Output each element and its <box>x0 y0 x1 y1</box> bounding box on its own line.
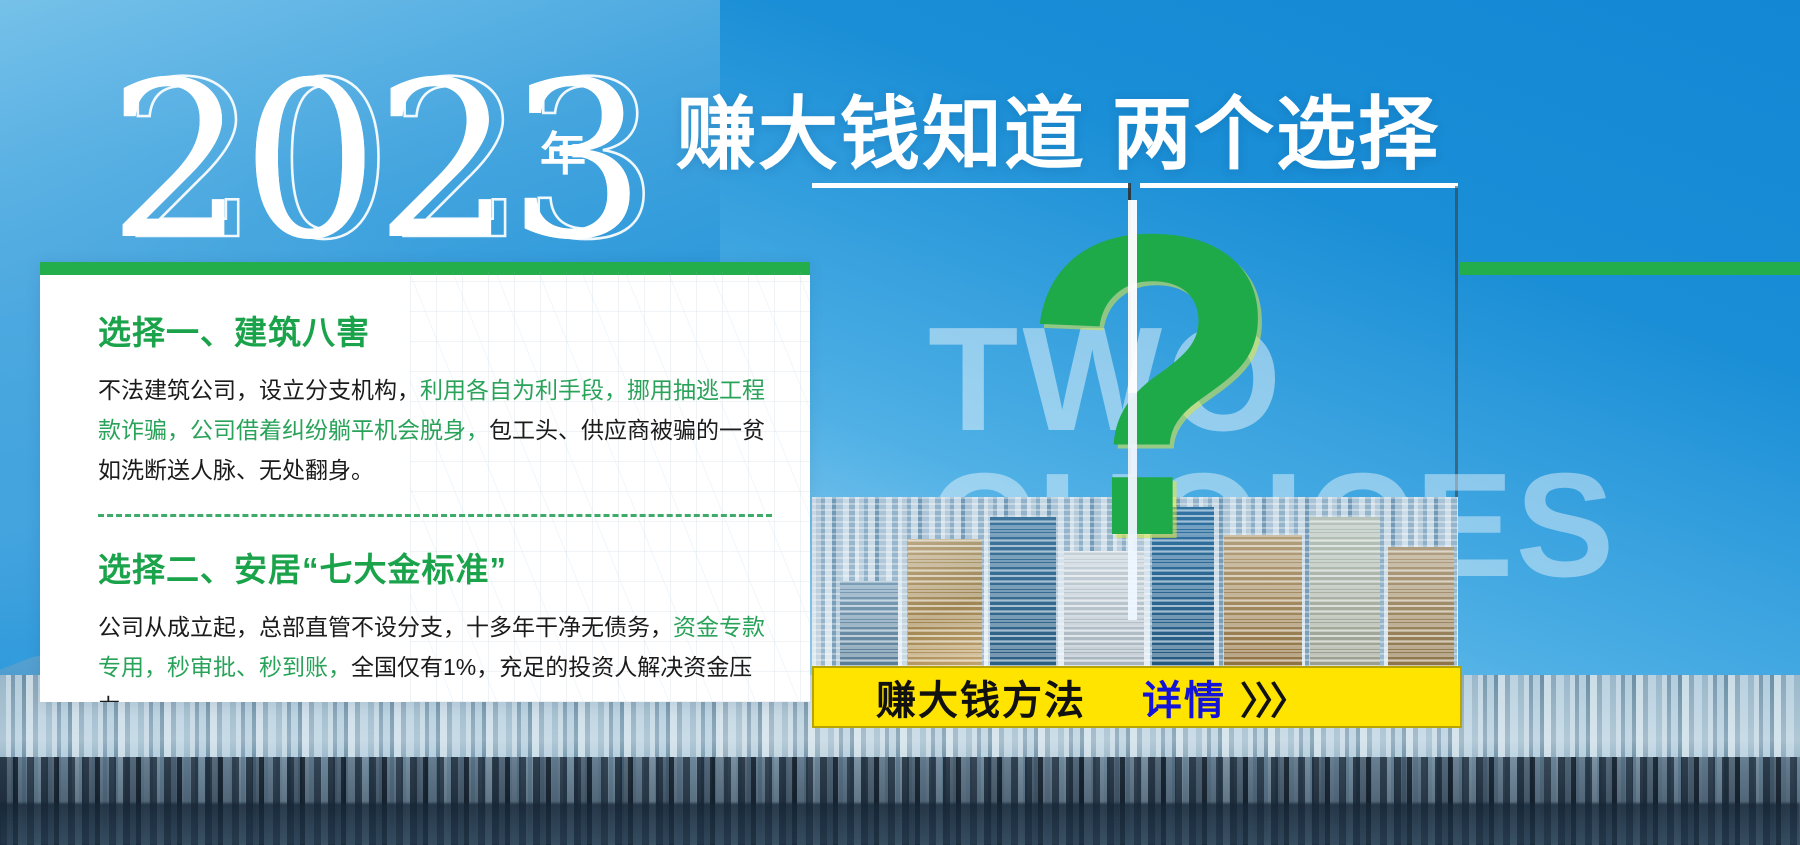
section-two: 选择二、安居“七大金标准” 公司从成立起，总部直管不设分支，十多年干净无债务，资… <box>98 543 772 702</box>
card-body: 选择一、建筑八害 不法建筑公司，设立分支机构，利用各自为利手段，挪用抽逃工程款诈… <box>40 262 810 702</box>
question-mark-split-line <box>1128 200 1137 620</box>
building <box>908 539 982 667</box>
cta-banner[interactable]: 赚大钱方法 详情 〉〉〉 <box>812 666 1462 728</box>
question-mark-icon: ? <box>1020 196 1283 576</box>
waterfront-reflection <box>0 803 1800 845</box>
building <box>840 581 898 667</box>
year-badge: 2023 2023 <box>108 62 728 262</box>
section-one-run-1: 不法建筑公司，设立分支机构， <box>98 377 420 403</box>
year-number: 2023 <box>108 62 728 262</box>
section-one: 选择一、建筑八害 不法建筑公司，设立分支机构，利用各自为利手段，挪用抽逃工程款诈… <box>98 306 772 490</box>
section-two-body: 公司从成立起，总部直管不设分支，十多年干净无债务，资金专款专用，秒审批、秒到账，… <box>98 607 772 702</box>
section-divider <box>98 514 772 517</box>
section-one-title: 选择一、建筑八害 <box>98 306 772 354</box>
section-one-body: 不法建筑公司，设立分支机构，利用各自为利手段，挪用抽逃工程款诈骗，公司借着纠纷躺… <box>98 370 772 490</box>
building <box>1310 517 1380 667</box>
green-accent-bar-right <box>1460 262 1800 275</box>
section-two-run-1: 公司从成立起，总部直管不设分支，十多年干净无债务， <box>98 614 673 640</box>
building <box>1388 547 1454 667</box>
chevron-right-icon: 〉〉〉 <box>1240 670 1304 725</box>
content-card: 选择一、建筑八害 不法建筑公司，设立分支机构，利用各自为利手段，挪用抽逃工程款诈… <box>40 262 810 702</box>
cta-main-label: 赚大钱方法 <box>876 668 1086 726</box>
poster-canvas: 2023 2023 年 赚大钱知道两个选择 TWO CHOICES ? 赚大钱方… <box>0 0 1800 845</box>
cta-detail-link[interactable]: 详情 <box>1142 668 1226 726</box>
section-two-title: 选择二、安居“七大金标准” <box>98 543 772 591</box>
